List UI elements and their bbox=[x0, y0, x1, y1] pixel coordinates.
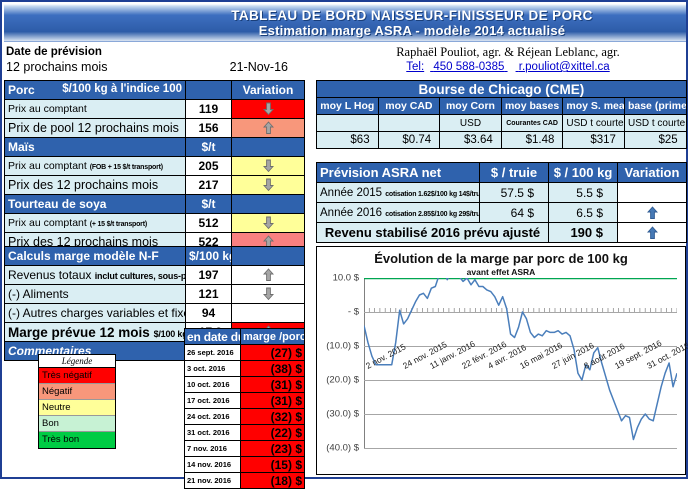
chart-gridline bbox=[364, 448, 677, 449]
arrow-down-icon bbox=[263, 102, 274, 116]
table-row: Année 2016 cotisation 2.85$/100 kg 29$/t… bbox=[317, 203, 687, 223]
title-banner: TABLEAU DE BORD NAISSEUR-FINISSEUR DE PO… bbox=[4, 4, 686, 42]
table-row: 10 oct. 2016(31) $ bbox=[185, 377, 305, 393]
table-row: 21 nov. 2016(18) $ bbox=[185, 473, 305, 489]
history-marge: (31) $ bbox=[241, 377, 305, 393]
authors-block: Raphaël Pouliot, agr. & Réjean Leblanc, … bbox=[332, 45, 684, 77]
arrow-up-icon bbox=[263, 268, 274, 282]
cme-value: $1.48 bbox=[501, 132, 563, 149]
price-value: 512 bbox=[186, 214, 232, 233]
cme-column-unit: Courantes CAD bbox=[501, 115, 563, 132]
price-value: 119 bbox=[186, 100, 232, 119]
history-marge: (22) $ bbox=[241, 425, 305, 441]
table-row: Prix de pool 12 prochains mois156 bbox=[5, 119, 305, 138]
cme-value: $63 bbox=[317, 132, 379, 149]
cme-column-unit: USD t courte bbox=[563, 115, 625, 132]
price-label: Prix au comptant bbox=[5, 100, 186, 119]
cme-column-unit: USD bbox=[440, 115, 502, 132]
asra-truie-value: 57.5 $ bbox=[480, 183, 549, 203]
history-date: 17 oct. 2016 bbox=[185, 393, 241, 409]
table-row: 24 oct. 2016(32) $ bbox=[185, 409, 305, 425]
cme-value: $0.74 bbox=[378, 132, 440, 149]
history-marge: (38) $ bbox=[241, 361, 305, 377]
variation-cell bbox=[232, 266, 305, 285]
price-value: 217 bbox=[186, 176, 232, 195]
cme-value: $3.64 bbox=[440, 132, 502, 149]
chart-y-tick-label: (20.0) $ bbox=[307, 375, 359, 386]
cme-column-header: base (prime) bbox=[624, 98, 686, 115]
section-unit: $/t bbox=[186, 195, 232, 214]
margin-header-title: Calculs marge modèle N-F bbox=[5, 247, 186, 266]
cme-column-unit bbox=[378, 115, 440, 132]
history-date: 24 oct. 2016 bbox=[185, 409, 241, 425]
cme-title: Bourse de Chicago (CME) bbox=[317, 81, 687, 98]
arrow-down-icon bbox=[263, 159, 274, 173]
cme-column-header: moy Corn bbox=[440, 98, 502, 115]
history-marge-header: marge /porc bbox=[241, 329, 305, 345]
cme-unit-row: USDCourantes CADUSD t courteUSD t courte bbox=[317, 115, 687, 132]
chart-series-svg bbox=[364, 278, 677, 448]
contact-line[interactable]: Tel: 450 588-0385 r.pouliot@xittel.ca bbox=[332, 60, 684, 75]
table-row: Prix au comptant (FOB + 15 $/t transport… bbox=[5, 157, 305, 176]
asra-kg-value: 6.5 $ bbox=[549, 203, 618, 223]
price-value: 205 bbox=[186, 157, 232, 176]
tel-value[interactable]: 450 588-0385 bbox=[433, 61, 504, 73]
price-label: Prix des 12 prochains mois bbox=[5, 176, 186, 195]
cme-column-header: moy L Hog bbox=[317, 98, 379, 115]
history-header-row: en date dumarge /porc bbox=[185, 329, 305, 345]
history-date: 10 oct. 2016 bbox=[185, 377, 241, 393]
table-row: Année 2015 cotisation 1.62$/100 kg 14$/t… bbox=[317, 183, 687, 203]
table-row: Revenus totaux inclut cultures, sous-pro… bbox=[5, 266, 305, 285]
section-header-row: Tourteau de soya$/t bbox=[5, 195, 305, 214]
table-row: (-) Aliments121 bbox=[5, 285, 305, 304]
history-date: 26 sept. 2016 bbox=[185, 345, 241, 361]
price-label: Prix de pool 12 prochains mois bbox=[5, 119, 186, 138]
table-row: Prix au comptant (+ 15 $/t transport)512 bbox=[5, 214, 305, 233]
forecast-date-label: Date de prévision bbox=[6, 45, 306, 59]
forecast-date-block: Date de prévision 12 prochains mois 21-N… bbox=[6, 45, 306, 77]
asra-col-truie: $ / truie bbox=[480, 163, 549, 183]
section-variation-header: Variation bbox=[232, 81, 305, 100]
variation-cell bbox=[232, 214, 305, 233]
chart-plot-area: 10.0 $- $(10.0) $(20.0) $(30.0) $(40.0) … bbox=[364, 278, 677, 448]
margin-value: 121 bbox=[186, 285, 232, 304]
section-title: Tourteau de soya bbox=[5, 195, 186, 214]
variation-cell bbox=[618, 203, 687, 223]
forecast-period-label: 12 prochains mois bbox=[6, 60, 107, 74]
cme-title-row: Bourse de Chicago (CME) bbox=[317, 81, 687, 98]
legend-item: Bon bbox=[39, 416, 115, 432]
prices-table: Porc$/100 kg à l'indice 100VariationPrix… bbox=[4, 80, 305, 252]
margin-label: Marge prévue 12 mois $/100 kg bbox=[5, 323, 186, 342]
price-value: 156 bbox=[186, 119, 232, 138]
margin-label: (-) Aliments bbox=[5, 285, 186, 304]
arrow-up-icon bbox=[263, 121, 274, 135]
cme-column-unit bbox=[317, 115, 379, 132]
table-row: 7 nov. 2016(23) $ bbox=[185, 441, 305, 457]
legend-item: Neutre bbox=[39, 400, 115, 416]
tel-label: Tel: bbox=[406, 61, 424, 73]
table-row: 31 oct. 2016(22) $ bbox=[185, 425, 305, 441]
history-date: 21 nov. 2016 bbox=[185, 473, 241, 489]
asra-forecast-table: Prévision ASRA net$ / truie$ / 100 kgVar… bbox=[316, 162, 687, 243]
section-title: Maïs bbox=[5, 138, 186, 157]
legend: Légende Très négatifNégatifNeutreBonTrès… bbox=[38, 354, 116, 449]
variation-cell bbox=[232, 285, 305, 304]
history-marge: (18) $ bbox=[241, 473, 305, 489]
cme-value: $25 bbox=[624, 132, 686, 149]
table-row: 26 sept. 2016(27) $ bbox=[185, 345, 305, 361]
history-marge: (27) $ bbox=[241, 345, 305, 361]
legend-title: Légende bbox=[39, 355, 115, 368]
asra-kg-value: 5.5 $ bbox=[549, 183, 618, 203]
legend-item: Très bon bbox=[39, 432, 115, 448]
variation-cell bbox=[232, 100, 305, 119]
asra-year-label: Année 2016 cotisation 2.85$/100 kg 29$/t… bbox=[317, 203, 480, 223]
margin-label: Revenus totaux inclut cultures, sous-pro… bbox=[5, 266, 186, 285]
arrow-down-icon bbox=[263, 287, 274, 301]
table-row: 17 oct. 2016(31) $ bbox=[185, 393, 305, 409]
variation-cell bbox=[232, 304, 305, 323]
cme-column-header: moy S. meal bbox=[563, 98, 625, 115]
history-date: 3 oct. 2016 bbox=[185, 361, 241, 377]
margin-header-unit: $/100 kg bbox=[186, 247, 232, 266]
variation-cell bbox=[618, 183, 687, 203]
asra-year-label: Année 2015 cotisation 1.62$/100 kg 14$/t… bbox=[317, 183, 480, 203]
history-marge: (23) $ bbox=[241, 441, 305, 457]
table-row: 14 nov. 2016(15) $ bbox=[185, 457, 305, 473]
chart-subtitle: avant effet ASRA bbox=[317, 267, 685, 277]
cme-column-header: moy CAD bbox=[378, 98, 440, 115]
variation-cell bbox=[618, 223, 687, 243]
dashboard-title-line2: Estimation marge ASRA - modèle 2014 actu… bbox=[259, 23, 565, 38]
margin-header-variation bbox=[232, 247, 305, 266]
cme-header-row: moy L Hogmoy CADmoy Cornmoy basesmoy S. … bbox=[317, 98, 687, 115]
history-date: 14 nov. 2016 bbox=[185, 457, 241, 473]
margin-label: (-) Autres charges variables et fixes bbox=[5, 304, 186, 323]
dashboard-root: TABLEAU DE BORD NAISSEUR-FINISSEUR DE PO… bbox=[0, 0, 688, 479]
table-row: 3 oct. 2016(38) $ bbox=[185, 361, 305, 377]
cme-column-unit: USD t courte bbox=[624, 115, 686, 132]
chart-y-tick-label: - $ bbox=[307, 307, 359, 318]
arrow-up-icon bbox=[647, 206, 658, 220]
chart-y-tick-label: 10.0 $ bbox=[307, 273, 359, 284]
asra-col-variation: Variation bbox=[618, 163, 687, 183]
history-date: 7 nov. 2016 bbox=[185, 441, 241, 457]
chart-y-tick-label: (30.0) $ bbox=[307, 409, 359, 420]
authors-names: Raphaël Pouliot, agr. & Réjean Leblanc, … bbox=[332, 45, 684, 60]
table-row: Prix au comptant119 bbox=[5, 100, 305, 119]
asra-total-value: 190 $ bbox=[549, 223, 618, 243]
asra-header-row: Prévision ASRA net$ / truie$ / 100 kgVar… bbox=[317, 163, 687, 183]
history-marge: (31) $ bbox=[241, 393, 305, 409]
chart-y-tick-label: (40.0) $ bbox=[307, 443, 359, 454]
chart-title: Évolution de la marge par porc de 100 kg bbox=[317, 251, 685, 266]
asra-title: Prévision ASRA net bbox=[317, 163, 480, 183]
cme-value-row: $63$0.74$3.64$1.48$317$25 bbox=[317, 132, 687, 149]
history-marge: (15) $ bbox=[241, 457, 305, 473]
legend-item: Très négatif bbox=[39, 368, 115, 384]
history-date-header: en date du bbox=[185, 329, 241, 345]
chart-y-tick-label: (10.0) $ bbox=[307, 341, 359, 352]
section-header-row: Maïs$/t bbox=[5, 138, 305, 157]
margin-value: 197 bbox=[186, 266, 232, 285]
email-link[interactable]: r.pouliot@xittel.ca bbox=[519, 61, 610, 73]
asra-truie-value: 64 $ bbox=[480, 203, 549, 223]
cme-value: $317 bbox=[563, 132, 625, 149]
variation-cell bbox=[232, 119, 305, 138]
section-title: Porc$/100 kg à l'indice 100 bbox=[5, 81, 186, 100]
history-date: 31 oct. 2016 bbox=[185, 425, 241, 441]
dashboard-title-line1: TABLEAU DE BORD NAISSEUR-FINISSEUR DE PO… bbox=[231, 8, 593, 23]
arrow-down-icon bbox=[263, 178, 274, 192]
legend-item: Négatif bbox=[39, 384, 115, 400]
margin-evolution-chart: Évolution de la marge par porc de 100 kg… bbox=[316, 246, 686, 475]
margin-history-table: en date dumarge /porc26 sept. 2016(27) $… bbox=[184, 328, 305, 489]
arrow-up-icon bbox=[647, 226, 658, 240]
table-row: Prix des 12 prochains mois217 bbox=[5, 176, 305, 195]
table-row: (-) Autres charges variables et fixes94 bbox=[5, 304, 305, 323]
cme-column-header: moy bases bbox=[501, 98, 563, 115]
asra-total-label: Revenu stabilisé 2016 prévu ajusté bbox=[317, 223, 549, 243]
section-header-row: Calculs marge modèle N-F$/100 kg bbox=[5, 247, 305, 266]
arrow-down-icon bbox=[263, 216, 274, 230]
cme-table: Bourse de Chicago (CME)moy L Hogmoy CADm… bbox=[316, 80, 687, 149]
asra-col-kg: $ / 100 kg bbox=[549, 163, 618, 183]
price-label: Prix au comptant (+ 15 $/t transport) bbox=[5, 214, 186, 233]
asra-total-row: Revenu stabilisé 2016 prévu ajusté190 $ bbox=[317, 223, 687, 243]
history-marge: (32) $ bbox=[241, 409, 305, 425]
price-label: Prix au comptant (FOB + 15 $/t transport… bbox=[5, 157, 186, 176]
forecast-date-value: 21-Nov-16 bbox=[230, 59, 288, 75]
section-unit: $/t bbox=[186, 138, 232, 157]
section-variation-header bbox=[232, 195, 305, 214]
margin-value: 94 bbox=[186, 304, 232, 323]
section-unit bbox=[186, 81, 232, 100]
section-variation-header bbox=[232, 138, 305, 157]
variation-cell bbox=[232, 157, 305, 176]
chart-series-line bbox=[364, 278, 677, 440]
variation-cell bbox=[232, 176, 305, 195]
section-header-row: Porc$/100 kg à l'indice 100Variation bbox=[5, 81, 305, 100]
